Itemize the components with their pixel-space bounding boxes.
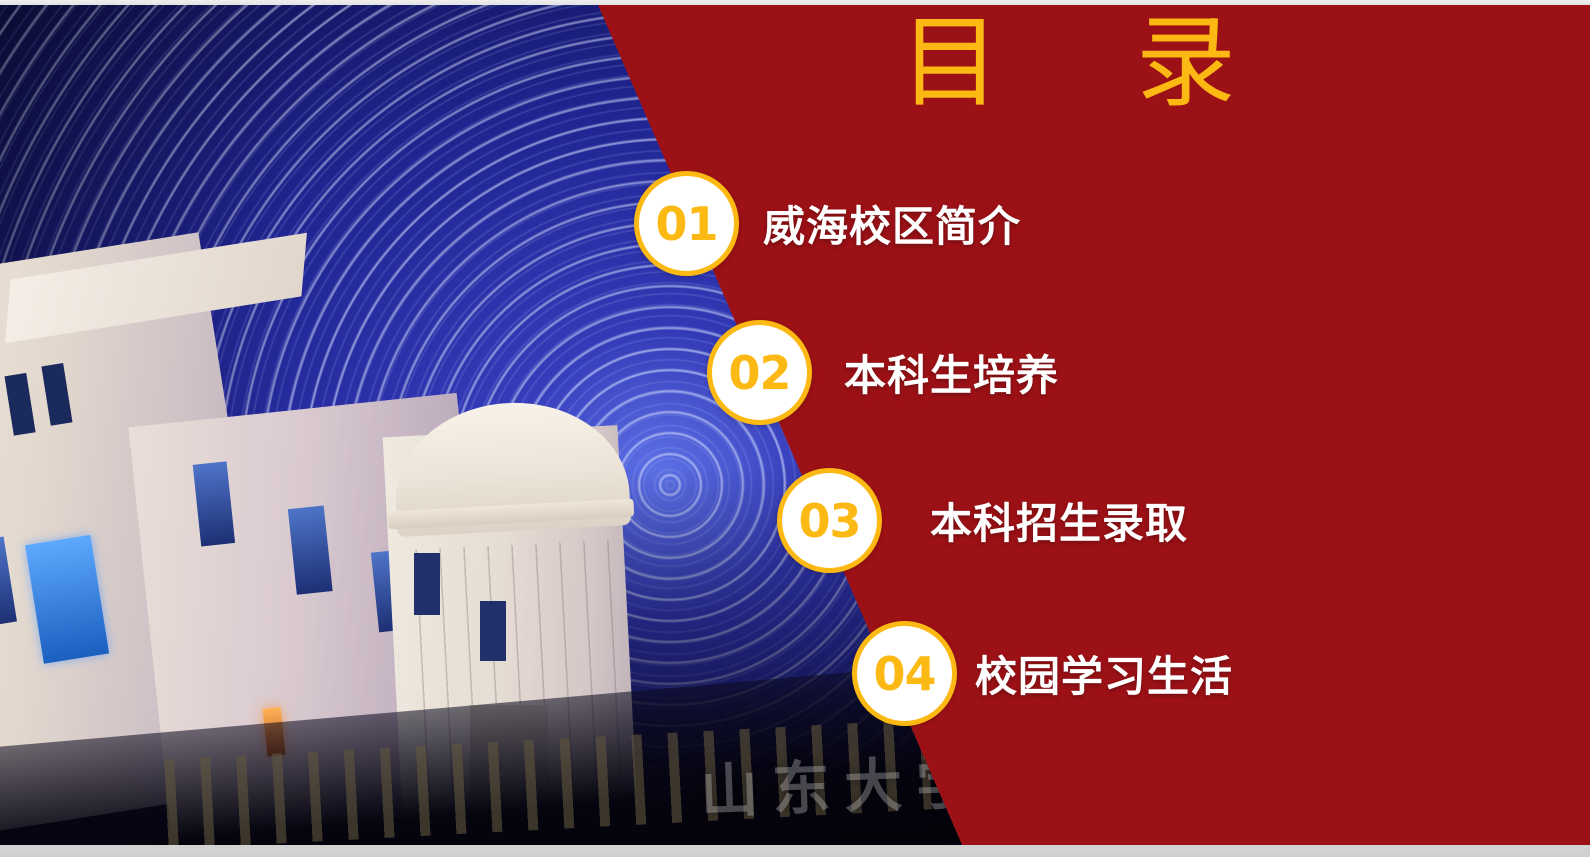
agenda-item-label: 本科生培养 [844,342,1059,403]
agenda-number: 04 [873,647,935,701]
agenda-item-04[interactable]: 04 校园学习生活 [852,621,1233,726]
agenda-number: 01 [655,197,717,251]
presentation-slide: 山东大学 目 录 01 威海校区简介 02 本科生培养 03 本科招生录取 04 [0,0,1590,857]
agenda-number-badge[interactable]: 03 [777,468,882,573]
agenda-item-02[interactable]: 02 本科生培养 [707,320,1059,425]
agenda-number: 02 [728,346,790,400]
agenda-number-badge[interactable]: 04 [852,621,957,726]
slide-top-edge [0,0,1590,5]
agenda-number-badge[interactable]: 01 [634,171,739,276]
agenda-list: 01 威海校区简介 02 本科生培养 03 本科招生录取 04 校园学习生活 [0,0,1590,857]
agenda-item-03[interactable]: 03 本科招生录取 [777,468,1188,573]
agenda-item-label: 校园学习生活 [975,643,1233,704]
slide-bottom-edge [0,845,1590,857]
agenda-item-label: 威海校区简介 [763,193,1021,254]
agenda-item-01[interactable]: 01 威海校区简介 [634,171,1021,276]
agenda-number: 03 [798,494,860,548]
agenda-number-badge[interactable]: 02 [707,320,812,425]
agenda-item-label: 本科招生录取 [930,490,1188,551]
